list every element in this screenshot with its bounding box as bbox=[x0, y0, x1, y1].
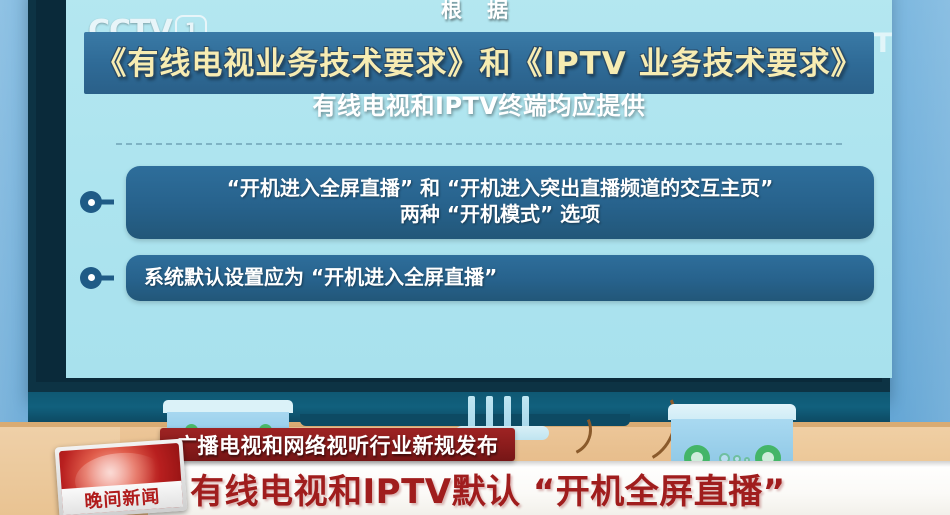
list-item: 系统默认设置应为 “开机进入全屏直播” bbox=[66, 255, 892, 301]
lower-third-sub-bar: 广播电视和网络视听行业新规发布 bbox=[160, 428, 515, 461]
lower-third-headline-bar: 有线电视和IPTV默认 “开机全屏直播” bbox=[148, 461, 950, 515]
lower-third-shadow bbox=[148, 461, 950, 467]
bullet-stem bbox=[100, 200, 114, 205]
antenna-bar bbox=[486, 396, 493, 428]
tv-screen: CCTV1 综 合 央视网 CCTV .com 根 据 《有线电视业务技术要求》… bbox=[66, 0, 892, 378]
bullet-stem bbox=[100, 275, 114, 280]
bullet-dot-icon bbox=[80, 191, 102, 213]
program-logo: 晚间新闻 bbox=[55, 439, 188, 515]
list-item: “开机进入全屏直播” 和 “开机进入突出直播频道的交互主页” 两种 “开机模式”… bbox=[66, 166, 892, 239]
bullet-box: 系统默认设置应为 “开机进入全屏直播” bbox=[126, 255, 874, 301]
lower-third-sub-headline: 广播电视和网络视听行业新规发布 bbox=[176, 430, 499, 460]
antenna-bar bbox=[468, 396, 475, 428]
slide-bullet-list: “开机进入全屏直播” 和 “开机进入突出直播频道的交互主页” 两种 “开机模式”… bbox=[66, 166, 892, 317]
slide-title: 《有线电视业务技术要求》和《IPTV 业务技术要求》 bbox=[66, 38, 892, 83]
slide-content: CCTV1 综 合 央视网 CCTV .com 根 据 《有线电视业务技术要求》… bbox=[66, 0, 892, 378]
antenna-bar bbox=[522, 396, 529, 428]
bullet-text-line2: 两种 “开机模式” 选项 bbox=[144, 201, 856, 227]
bullet-text-line1: “开机进入全屏直播” 和 “开机进入突出直播频道的交互主页” bbox=[144, 175, 856, 201]
bullet-dot-icon bbox=[80, 267, 102, 289]
bullet-box: “开机进入全屏直播” 和 “开机进入突出直播频道的交互主页” 两种 “开机模式”… bbox=[126, 166, 874, 239]
slide-kicker: 根 据 bbox=[66, 0, 892, 24]
slide-divider bbox=[116, 143, 842, 145]
program-name: 晚间新闻 bbox=[84, 482, 162, 513]
slide-subtitle: 有线电视和IPTV终端均应提供 bbox=[66, 86, 892, 121]
bullet-text-line1: 系统默认设置应为 “开机进入全屏直播” bbox=[144, 264, 856, 290]
tv-bezel: CCTV1 综 合 央视网 CCTV .com 根 据 《有线电视业务技术要求》… bbox=[28, 0, 890, 398]
broadcast-screenshot: CCTV1 综 合 央视网 CCTV .com 根 据 《有线电视业务技术要求》… bbox=[0, 0, 950, 515]
lower-third-headline: 有线电视和IPTV默认 “开机全屏直播” bbox=[190, 464, 786, 513]
antenna-bar bbox=[504, 396, 511, 428]
audio-box-lid bbox=[668, 404, 796, 420]
